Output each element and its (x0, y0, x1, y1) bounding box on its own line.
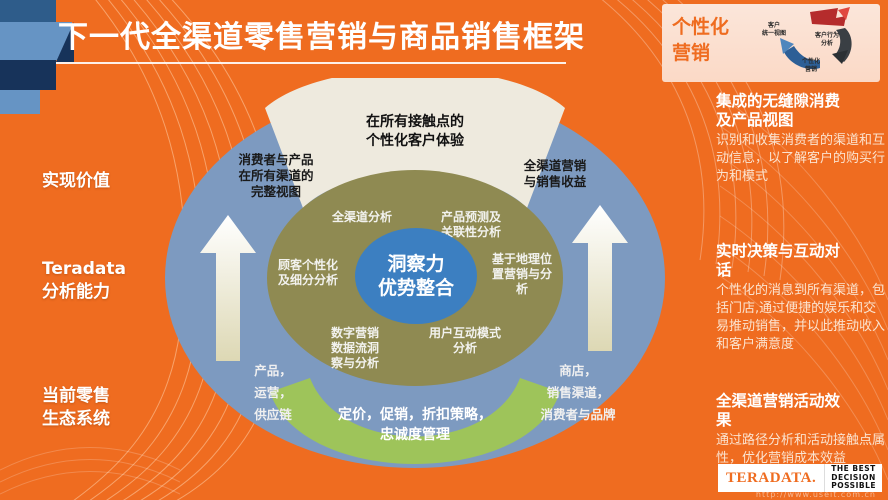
core-label: 洞察力优势整合 (378, 252, 454, 300)
ring-label-bottom-left: 产品，运营，供应链 (233, 360, 313, 426)
logo-tagline-text: THE BESTDECISIONPOSSIBLE (831, 465, 876, 491)
logo-tagline-box: THE BESTDECISIONPOSSIBLE (824, 464, 882, 492)
right-body-2: 通过路径分析和活动接触点属性，优化营销成本效益 (716, 432, 886, 468)
ring-label-right: 全渠道营销与销售收益 (495, 158, 615, 190)
value-arrow-right (570, 203, 630, 353)
value-arrow-left (198, 213, 258, 363)
accent-block-dark-bottom (0, 60, 56, 90)
inset-title-line1: 个性化 (672, 14, 748, 40)
fan-top-label: 在所有接触点的个性化客户体验 (295, 113, 535, 151)
olive-label-customer-personalization: 顾客个性化及细分分析 (265, 258, 351, 288)
cycle-label-2: 个性化营销 (790, 58, 832, 74)
right-body-1: 个性化的消息到所有渠道，包括门店,通过便捷的娱乐和交易推动销售，并以此推动收入和… (716, 282, 886, 354)
right-body-0: 识别和收集消费者的渠道和互动信息，以了解客户的购买行为和模式 (716, 132, 886, 186)
accent-block-dark-top (0, 0, 56, 22)
olive-label-user-interaction: 用户互动模式分析 (413, 326, 517, 356)
omnichannel-framework-diagram: 在所有接触点的个性化客户体验 定价，促销，折扣策略，忠诚度管理 消费者与产品在所… (165, 88, 665, 468)
accent-block-light-2 (0, 90, 40, 114)
left-label-teradata-analytics: Teradata分析能力 (42, 258, 126, 304)
left-label-current-ecosystem: 当前零售生态系统 (42, 385, 110, 431)
core-insight-bubble: 洞察力优势整合 (355, 228, 477, 324)
logo-brand-box: TERADATA. (718, 464, 824, 492)
inset-title: 个性化 营销 (672, 14, 748, 66)
right-heading-0: 集成的无缝隙消费及产品视图 (716, 92, 882, 130)
page-title: 下一代全渠道零售营销与商品销售框架 (58, 14, 658, 62)
right-heading-2: 全渠道营销活动效果 (716, 392, 882, 430)
ring-label-left: 消费者与产品在所有渠道的完整视图 (201, 152, 351, 200)
slide-root: 下一代全渠道零售营销与商品销售框架 个性化 营销 客户统一视图 客户行为分析 个… (0, 0, 888, 500)
cycle-label-1: 客户行为分析 (804, 32, 850, 48)
olive-label-geo-marketing: 基于地理位置营销与分析 (483, 252, 561, 297)
olive-label-digital-marketing: 数字营销数据流洞察与分析 (317, 326, 393, 371)
left-label-realize-value: 实现价值 (42, 170, 110, 193)
inset-cycle-diagram: 客户统一视图 客户行为分析 个性化营销 (750, 6, 876, 80)
title-underline (56, 62, 566, 64)
inset-title-line2: 营销 (672, 40, 748, 66)
right-heading-1: 实时决策与互动对话 (716, 242, 882, 280)
personalized-marketing-inset: 个性化 营销 客户统一视图 客户行为分析 个性化营销 (662, 4, 880, 82)
olive-label-omnichannel-analysis: 全渠道分析 (307, 210, 417, 225)
cycle-label-0: 客户统一视图 (752, 22, 796, 38)
teradata-logo: TERADATA. THE BESTDECISIONPOSSIBLE (718, 464, 882, 492)
logo-brand-text: TERADATA. (726, 470, 816, 487)
ring-label-bottom-right: 商店，销售渠道，消费者与品牌 (513, 360, 643, 426)
